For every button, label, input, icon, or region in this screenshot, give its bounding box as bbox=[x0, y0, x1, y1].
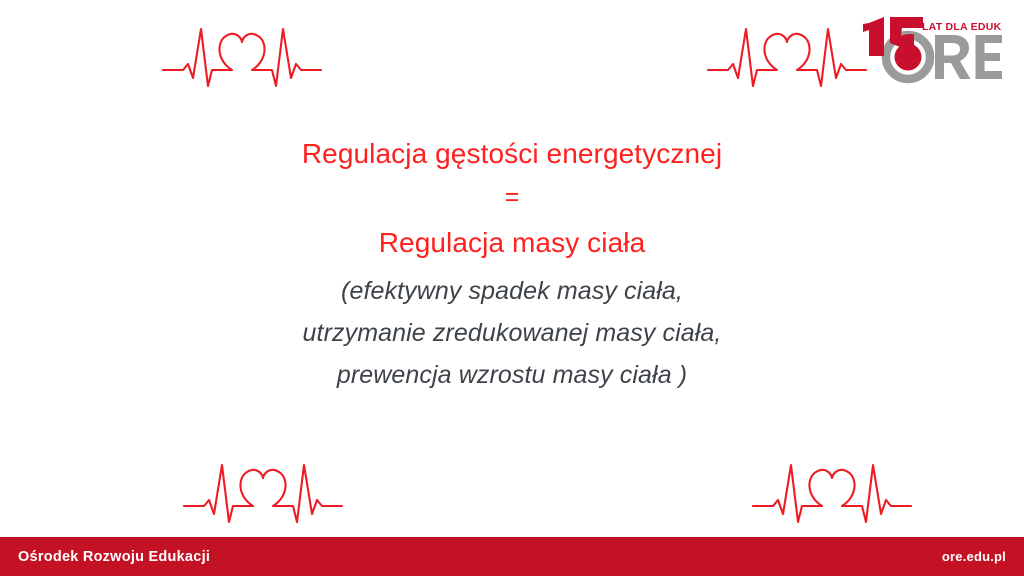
headline-secondary: Regulacja masy ciała bbox=[0, 220, 1024, 266]
slide-canvas: LAT DLA EDUKACJI Regulacja gęstości ener… bbox=[0, 0, 1024, 576]
equals-sign: = bbox=[0, 175, 1024, 220]
footer-bar: Ośrodek Rozwoju Edukacji ore.edu.pl bbox=[0, 537, 1024, 576]
ecg-heartbeat-icon bbox=[162, 22, 322, 100]
ecg-heartbeat-icon bbox=[752, 458, 912, 536]
ecg-heartbeat-icon bbox=[707, 22, 867, 100]
headline-primary: Regulacja gęstości energetycznej bbox=[0, 132, 1024, 175]
subtext-line-1: (efektywny spadek masy ciała, bbox=[0, 270, 1024, 312]
ecg-heartbeat-icon bbox=[183, 458, 343, 536]
footer-organization-label: Ośrodek Rozwoju Edukacji bbox=[18, 549, 210, 565]
ore-logo[interactable]: LAT DLA EDUKACJI bbox=[860, 8, 1002, 86]
slide-content: Regulacja gęstości energetycznej = Regul… bbox=[0, 132, 1024, 396]
footer-website-link[interactable]: ore.edu.pl bbox=[942, 549, 1006, 564]
subtext-line-2: utrzymanie zredukowanej masy ciała, bbox=[0, 312, 1024, 354]
subtext-line-3: prewencja wzrostu masy ciała ) bbox=[0, 354, 1024, 396]
logo-tagline-text: LAT DLA EDUKACJI bbox=[922, 21, 1002, 33]
